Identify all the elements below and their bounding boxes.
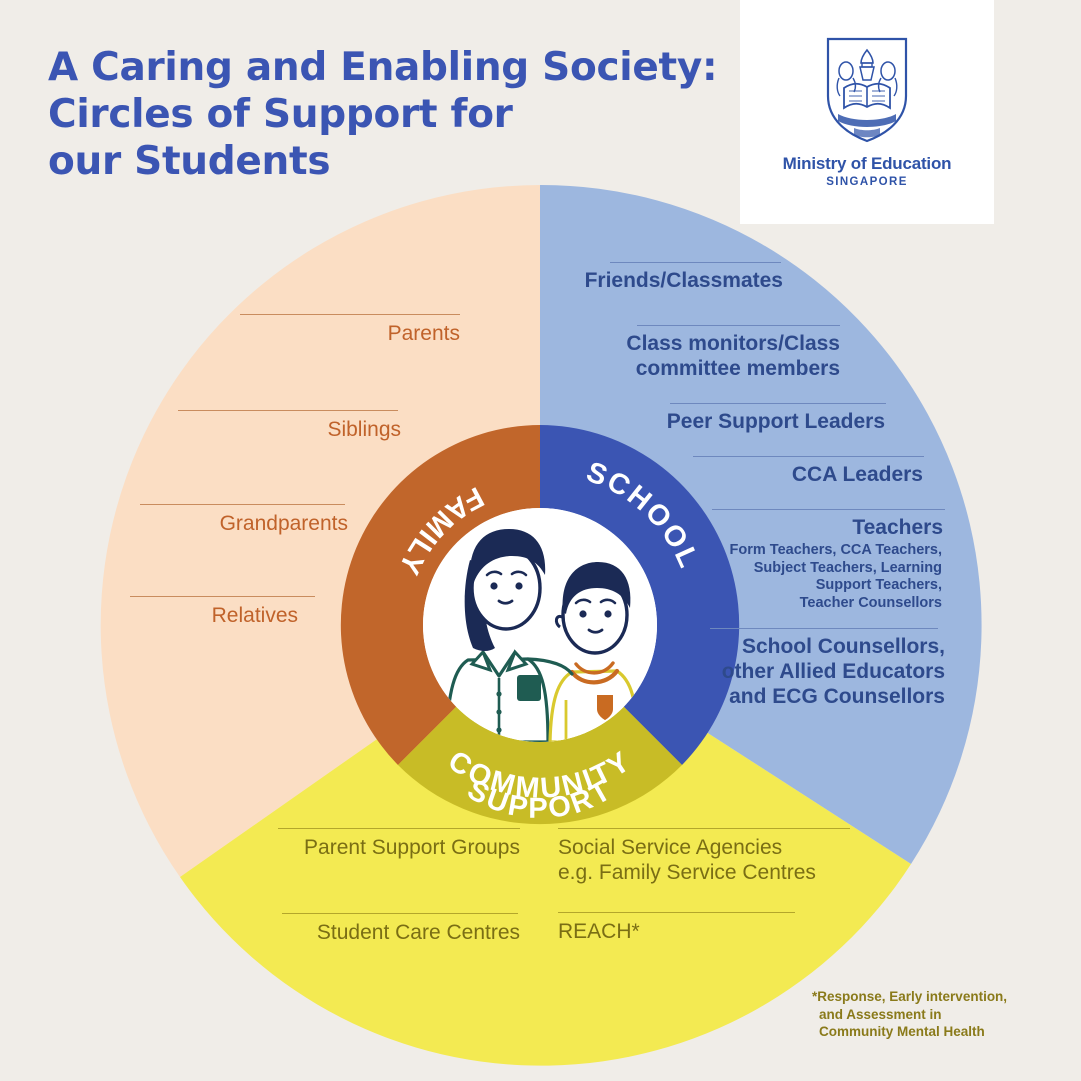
school-items-list: Friends/Classmates Class monitors/Class …: [580, 262, 950, 709]
school-item-label: CCA Leaders: [580, 457, 950, 487]
list-item: Student Care Centres: [230, 913, 520, 945]
list-item: CCA Leaders: [580, 456, 950, 487]
family-item-label: Grandparents: [110, 505, 460, 536]
school-item-label: Friends/Classmates: [580, 263, 950, 293]
community-item-label: Student Care Centres: [230, 914, 520, 945]
list-item: Friends/Classmates: [580, 262, 950, 293]
list-item: School Counsellors, other Allied Educato…: [580, 628, 950, 709]
community-item-label: Social Service Agencies e.g. Family Serv…: [558, 829, 858, 885]
infographic-canvas: A Caring and Enabling Society: Circles o…: [0, 0, 1081, 1081]
community-right-list: Social Service Agencies e.g. Family Serv…: [558, 828, 858, 944]
list-item: Grandparents: [110, 504, 460, 536]
list-item: REACH*: [558, 912, 858, 944]
list-item: Teachers Form Teachers, CCA Teachers, Su…: [580, 509, 950, 612]
school-item-label: School Counsellors, other Allied Educato…: [580, 629, 950, 709]
list-item: Peer Support Leaders: [580, 403, 950, 434]
list-item: Parents: [110, 314, 460, 346]
community-item-label: REACH*: [558, 913, 858, 944]
list-item: Social Service Agencies e.g. Family Serv…: [558, 828, 858, 885]
community-item-label: Parent Support Groups: [230, 829, 520, 860]
school-item-label: Peer Support Leaders: [580, 404, 950, 434]
school-item-label: Class monitors/Class committee members: [580, 326, 950, 381]
family-item-label: Parents: [110, 315, 460, 346]
list-item: Siblings: [110, 410, 460, 442]
list-item: Parent Support Groups: [230, 828, 520, 860]
list-item: Class monitors/Class committee members: [580, 325, 950, 381]
family-items-list: Parents Siblings Grandparents Relatives: [110, 314, 460, 685]
community-left-list: Parent Support Groups Student Care Centr…: [230, 828, 520, 945]
family-item-label: Relatives: [110, 597, 460, 628]
family-item-label: Siblings: [110, 411, 460, 442]
school-item-label: Teachers: [580, 510, 950, 540]
school-item-sublabel: Form Teachers, CCA Teachers, Subject Tea…: [580, 540, 950, 612]
footnote: *Response, Early intervention, and Asses…: [812, 988, 1069, 1041]
list-item: Relatives: [110, 596, 460, 628]
